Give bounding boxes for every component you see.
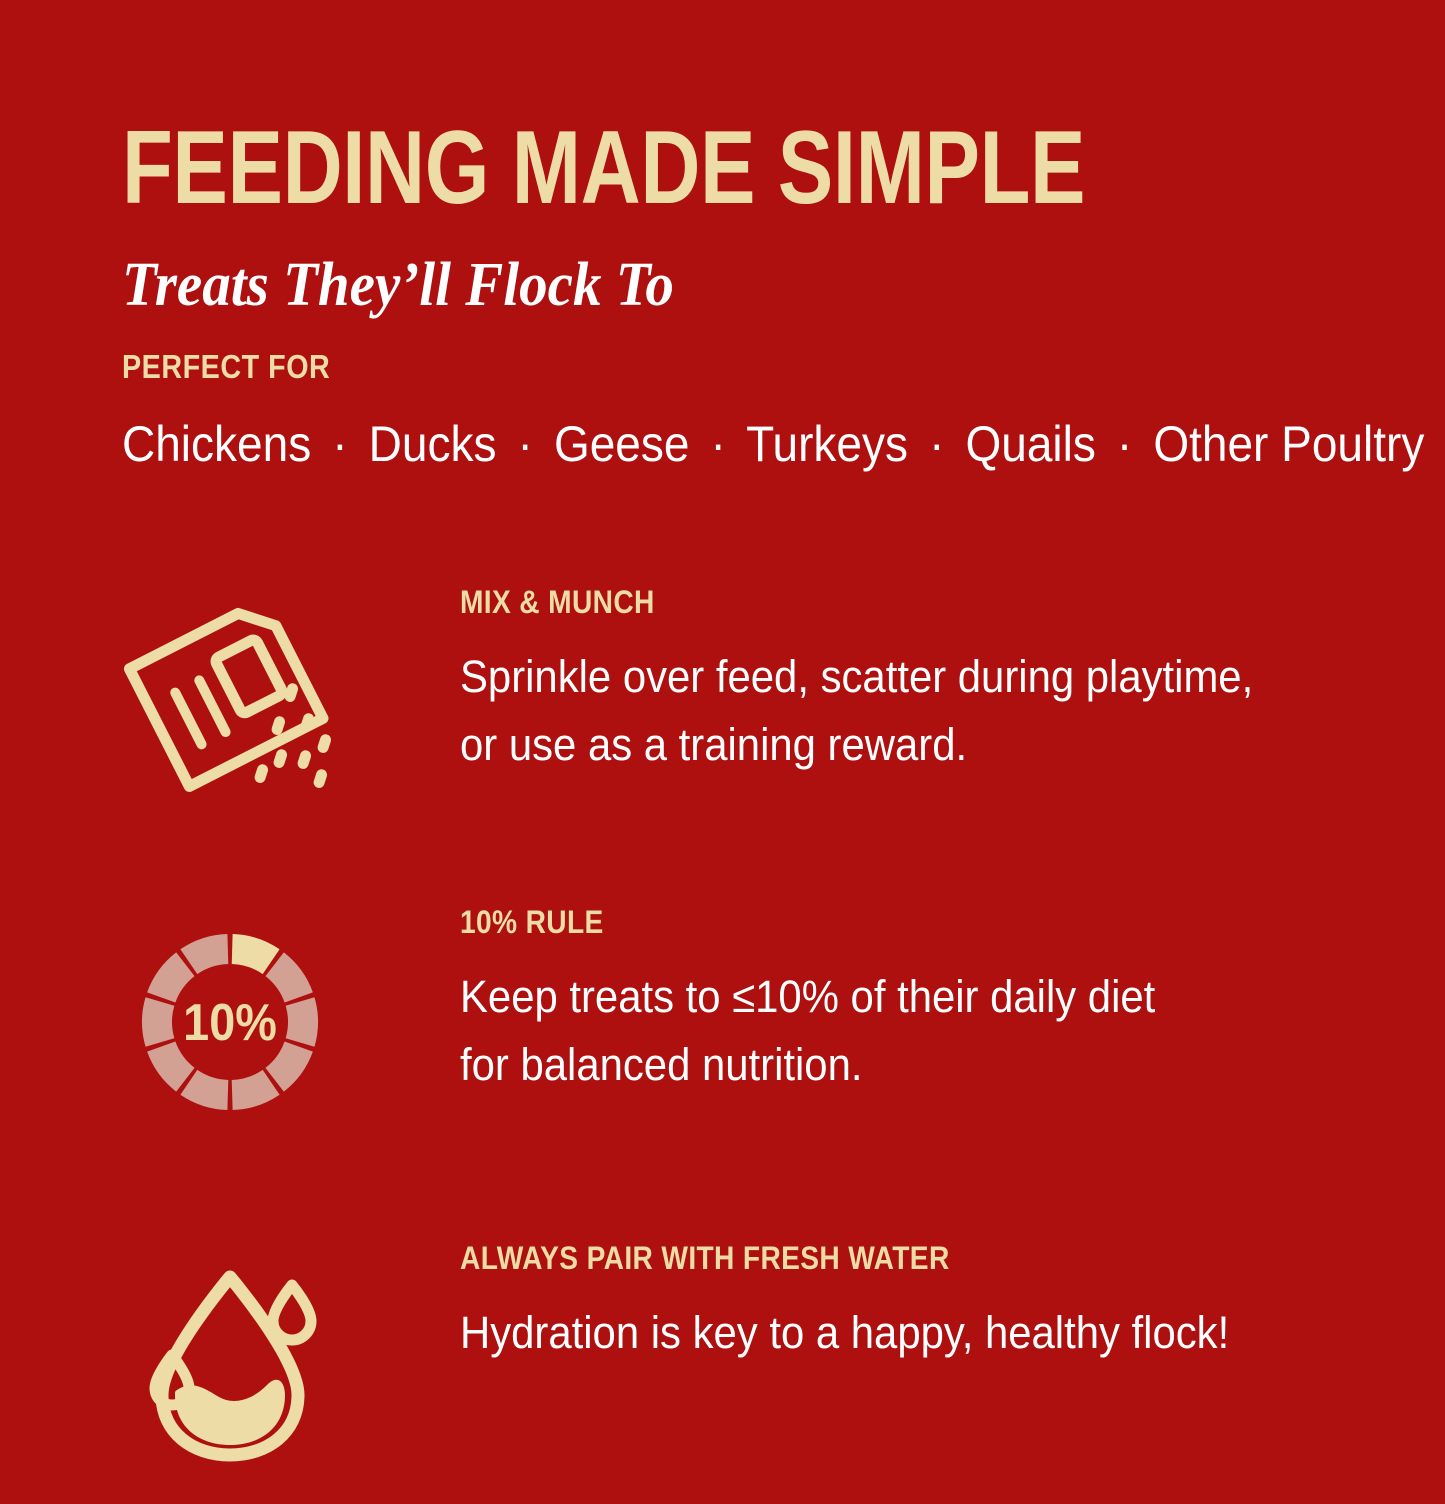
poultry-item: Ducks <box>369 416 497 472</box>
perfect-for-label: PERFECT FOR <box>122 348 1201 386</box>
donut-segment <box>142 997 174 1046</box>
poultry-item: Chickens <box>122 416 311 472</box>
perfect-for-section: PERFECT FOR Chickens · Ducks · Geese · T… <box>122 348 1362 471</box>
feature-title: 10% RULE <box>460 904 1327 941</box>
feature-title: ALWAYS PAIR WITH FRESH WATER <box>460 1240 1327 1277</box>
page-title: FEEDING MADE SIMPLE <box>122 116 1090 220</box>
feature-description-line: Keep treats to ≤10% of their daily diet <box>460 963 1376 1031</box>
treat-pouch-sprinkle-icon <box>115 587 345 817</box>
feature-description-line: Hydration is key to a happy, healthy flo… <box>460 1299 1376 1367</box>
feature-text-cell: 10% RULE Keep treats to ≤10% of their da… <box>460 876 1445 1100</box>
feature-list: MIX & MUNCH Sprinkle over feed, scatter … <box>0 556 1445 1432</box>
infographic-panel: FEEDING MADE SIMPLE Treats They’ll Flock… <box>0 0 1445 1445</box>
feature-text-cell: MIX & MUNCH Sprinkle over feed, scatter … <box>460 556 1445 780</box>
ten-percent-donut-icon: 10% <box>115 907 345 1137</box>
feature-row: MIX & MUNCH Sprinkle over feed, scatter … <box>0 556 1445 848</box>
poultry-item: Other Poultry <box>1153 416 1424 472</box>
feature-row: ALWAYS PAIR WITH FRESH WATER Hydration i… <box>0 1212 1445 1504</box>
poultry-item: Quails <box>965 416 1095 472</box>
water-droplet-icon <box>115 1243 345 1473</box>
list-separator: · <box>702 416 734 472</box>
list-separator: · <box>324 416 356 472</box>
feature-description-line: Sprinkle over feed, scatter during playt… <box>460 643 1376 711</box>
feature-description-line: or use as a training reward. <box>460 711 1376 779</box>
feature-description: Hydration is key to a happy, healthy flo… <box>460 1277 1376 1367</box>
header: FEEDING MADE SIMPLE Treats They’ll Flock… <box>122 116 1332 316</box>
list-separator: · <box>1109 416 1141 472</box>
feature-title: MIX & MUNCH <box>460 584 1327 621</box>
list-separator: · <box>509 416 541 472</box>
feature-description: Keep treats to ≤10% of their daily diet … <box>460 941 1376 1100</box>
donut-center-label: 10% <box>183 994 277 1052</box>
donut-segment <box>286 997 318 1046</box>
feature-icon-cell <box>0 1212 460 1504</box>
poultry-item: Turkeys <box>746 416 908 472</box>
feature-row: 10% 10% RULE Keep treats to ≤10% of thei… <box>0 876 1445 1168</box>
feature-description: Sprinkle over feed, scatter during playt… <box>460 621 1376 780</box>
feature-text-cell: ALWAYS PAIR WITH FRESH WATER Hydration i… <box>460 1212 1445 1367</box>
feature-icon-cell: 10% <box>0 876 460 1168</box>
feature-icon-cell <box>0 556 460 848</box>
page-subtitle: Treats They’ll Flock To <box>122 220 1235 316</box>
feature-description-line: for balanced nutrition. <box>460 1031 1376 1099</box>
poultry-list: Chickens · Ducks · Geese · Turkeys · Qua… <box>122 386 1263 471</box>
poultry-item: Geese <box>554 416 690 472</box>
list-separator: · <box>921 416 953 472</box>
